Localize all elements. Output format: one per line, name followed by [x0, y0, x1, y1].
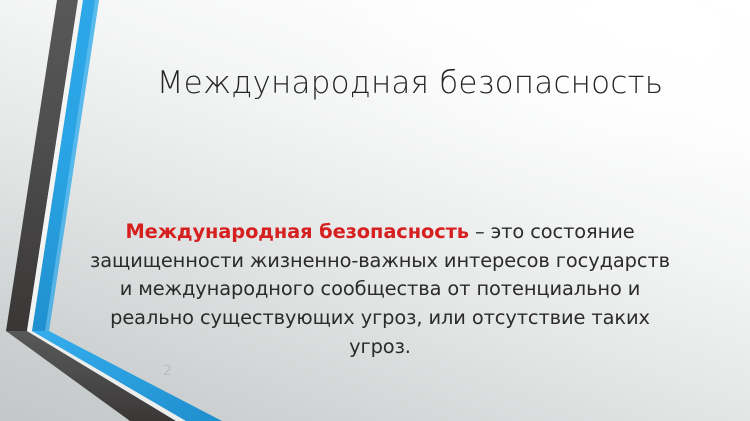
definition-term: Международная безопасность — [125, 220, 468, 243]
page-title: Международная безопасность — [110, 66, 710, 101]
definition-paragraph: Международная безопасность – это состоян… — [88, 218, 672, 362]
slide-canvas: Международная безопасность Международная… — [0, 0, 750, 421]
slide-number: 2 — [163, 363, 172, 379]
body-block: Международная безопасность – это состоян… — [88, 218, 672, 362]
title-block: Международная безопасность — [110, 66, 710, 101]
